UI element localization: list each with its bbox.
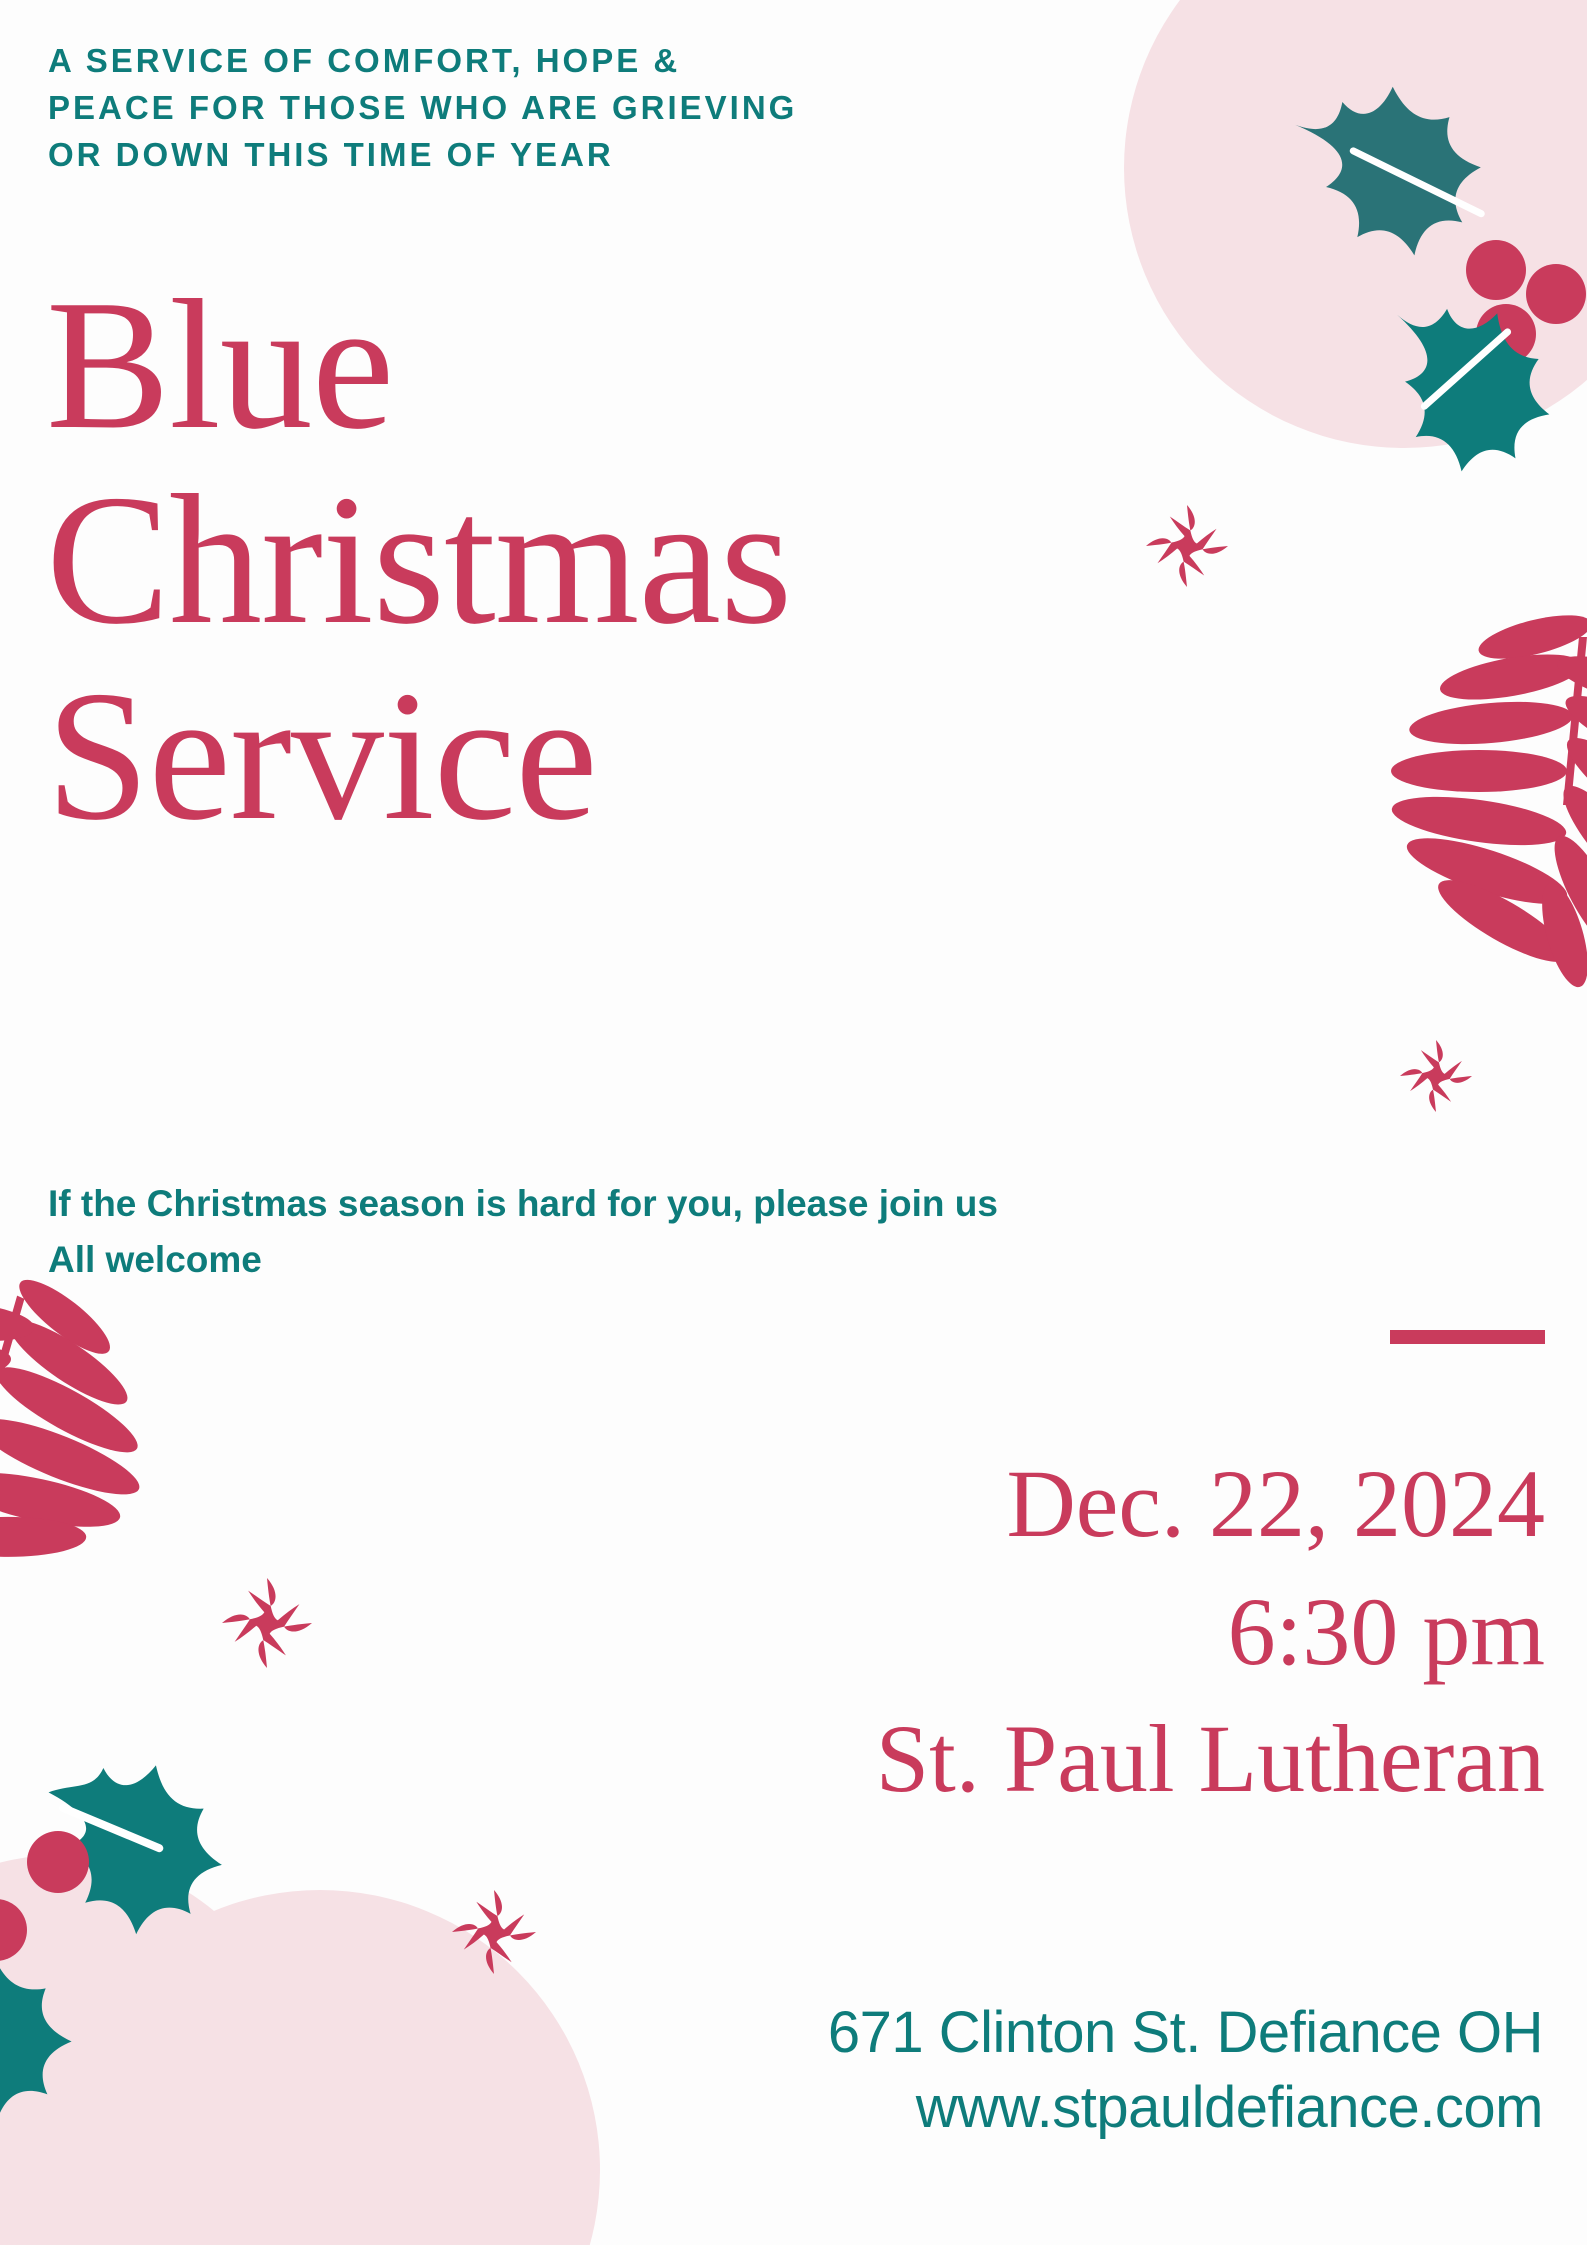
headline-line-2: Christmas [46, 463, 1246, 658]
footer-contact: 671 Clinton St. Defiance OH www.stpaulde… [343, 1995, 1543, 2146]
page-title: Blue Christmas Service [46, 268, 1246, 854]
eyebrow-text: A SERVICE OF COMFORT, HOPE & PEACE FOR T… [48, 38, 1148, 179]
accent-rule [1390, 1330, 1545, 1344]
event-time: 6:30 pm [445, 1568, 1545, 1696]
eyebrow-line-1: A SERVICE OF COMFORT, HOPE & [48, 42, 680, 79]
footer-address: 671 Clinton St. Defiance OH [343, 1995, 1543, 2070]
headline-line-1: Blue [46, 268, 1246, 463]
headline-line-3: Service [46, 659, 1246, 854]
subhead-line-1: If the Christmas season is hard for you,… [48, 1176, 1388, 1232]
eyebrow-line-2: PEACE FOR THOSE WHO ARE GRIEVING [48, 89, 797, 126]
event-details: Dec. 22, 2024 6:30 pm St. Paul Lutheran [445, 1440, 1545, 1823]
subhead-line-2: All welcome [48, 1232, 1388, 1288]
subheading-text: If the Christmas season is hard for you,… [48, 1176, 1388, 1287]
footer-website[interactable]: www.stpauldefiance.com [343, 2070, 1543, 2145]
event-date: Dec. 22, 2024 [445, 1440, 1545, 1568]
eyebrow-line-3: OR DOWN THIS TIME OF YEAR [48, 136, 614, 173]
poster-canvas: A SERVICE OF COMFORT, HOPE & PEACE FOR T… [0, 0, 1587, 2245]
event-venue: St. Paul Lutheran [445, 1695, 1545, 1823]
